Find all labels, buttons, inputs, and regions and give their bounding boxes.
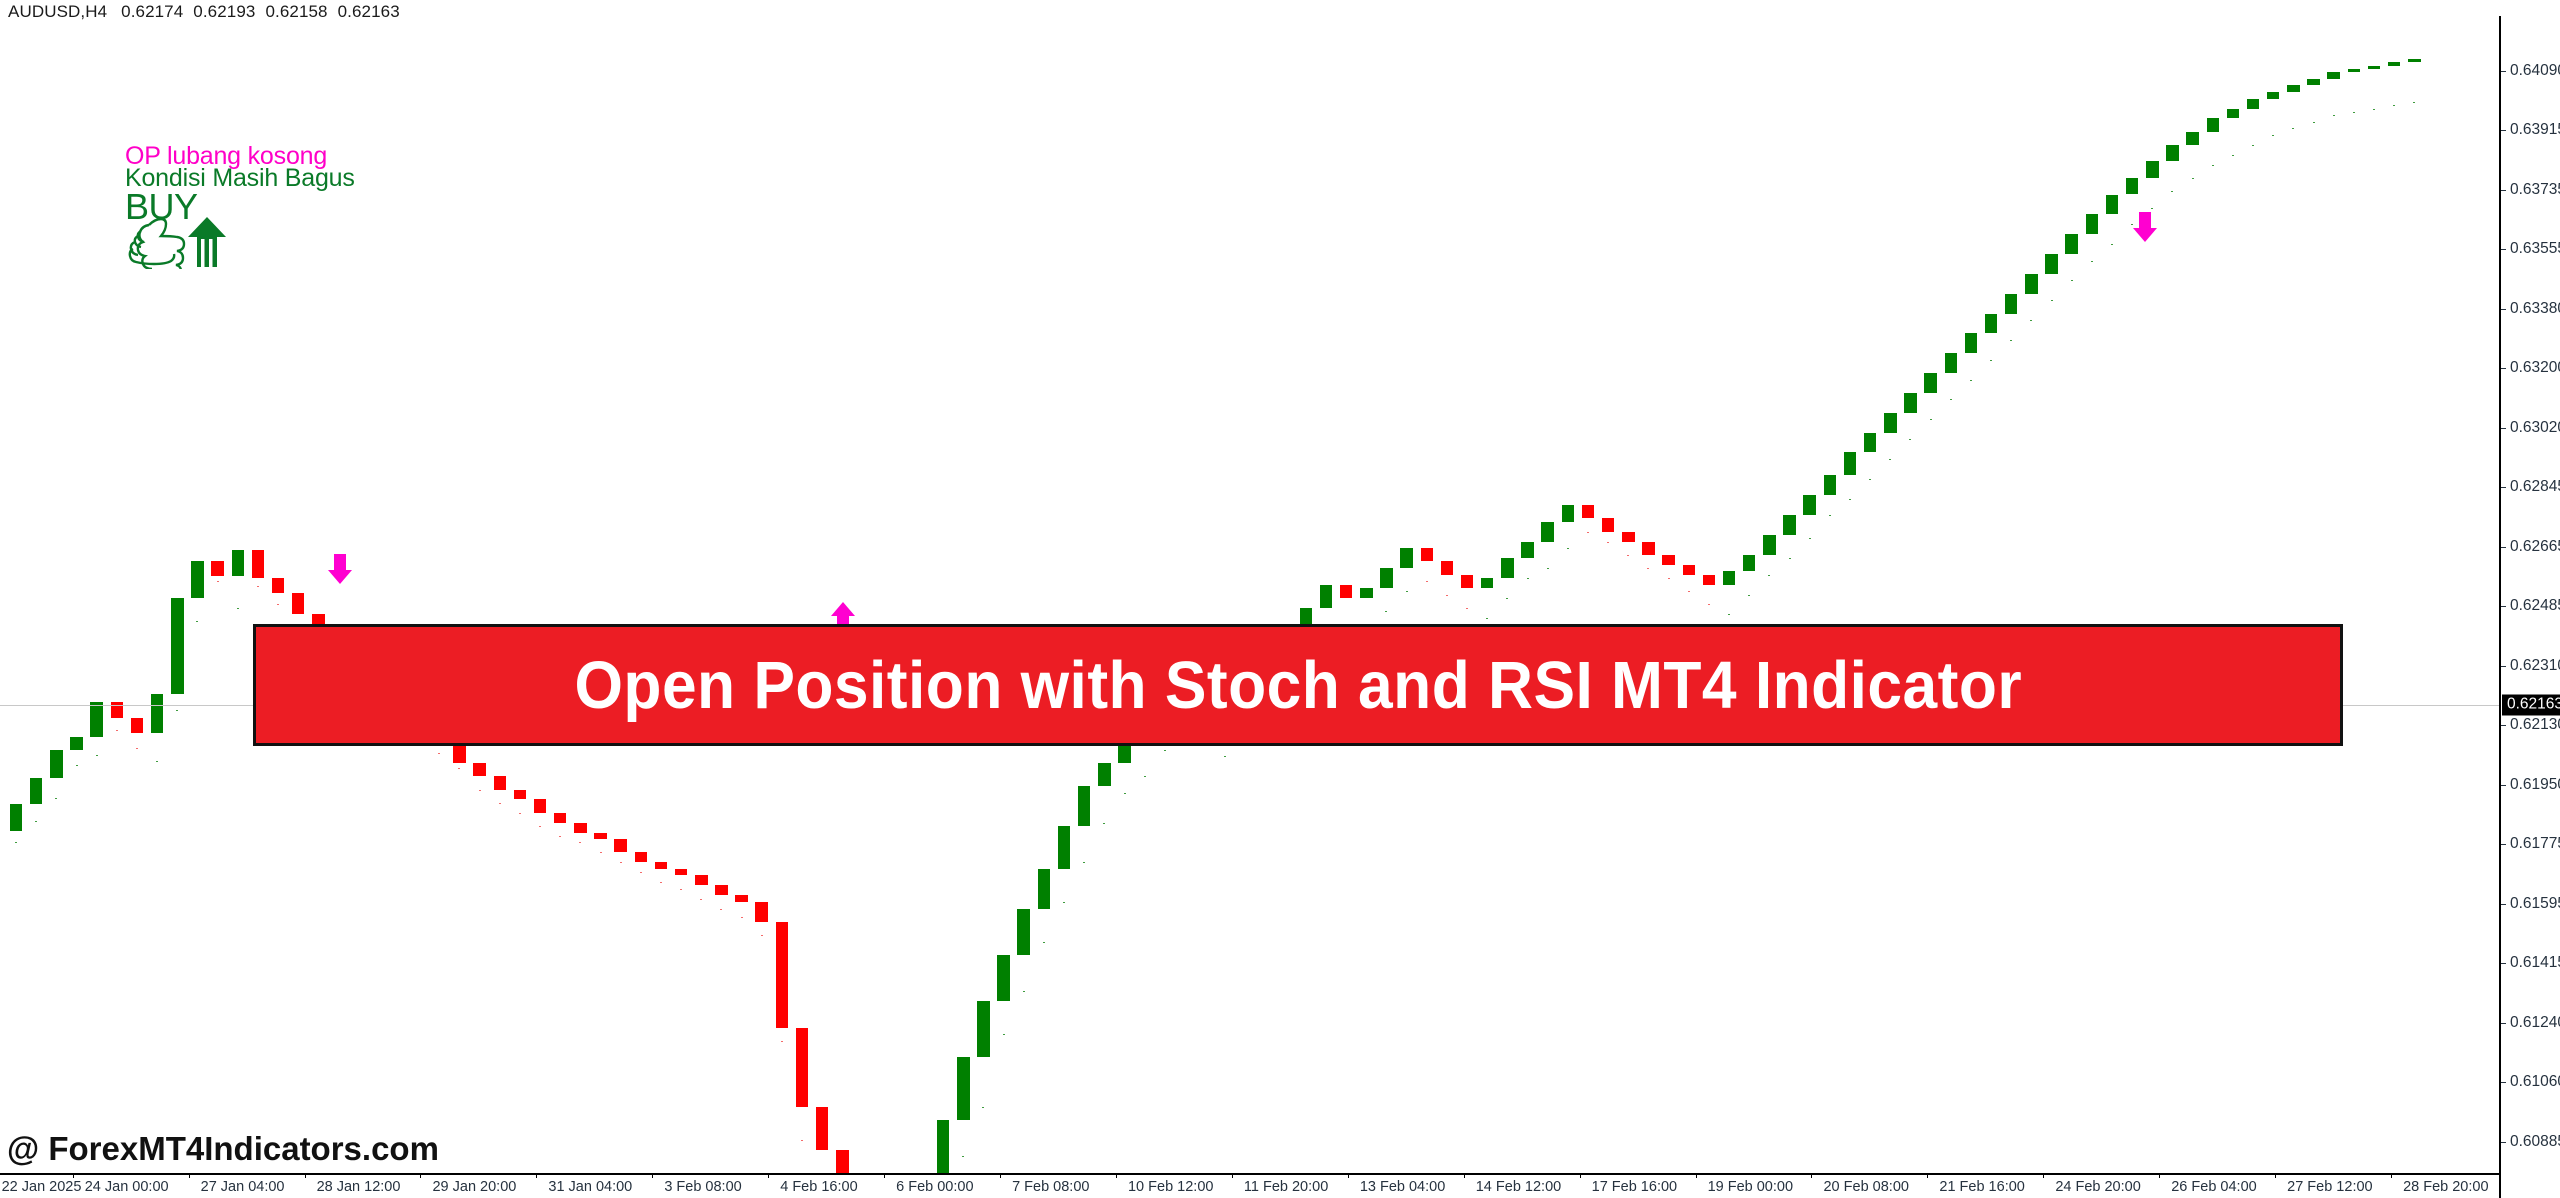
candle-body bbox=[10, 804, 22, 830]
candle-body bbox=[997, 955, 1009, 1001]
time-tick-separator bbox=[1348, 1173, 1349, 1178]
time-tick-separator bbox=[1232, 1173, 1233, 1178]
price-tick: 0.60885 bbox=[2501, 1133, 2560, 1151]
candle-body bbox=[2388, 62, 2400, 65]
price-tick: 0.63915 bbox=[2501, 121, 2560, 139]
candle-body bbox=[131, 718, 143, 733]
candle-wick bbox=[2252, 145, 2254, 146]
price-tick: 0.62665 bbox=[2501, 538, 2560, 556]
candle-wick bbox=[237, 608, 239, 609]
candle-wick bbox=[1103, 823, 1105, 824]
time-tick-separator bbox=[189, 1173, 190, 1178]
candle-body bbox=[2207, 118, 2219, 131]
candle-wick bbox=[680, 889, 682, 890]
candle-body bbox=[836, 1150, 848, 1173]
candle-body bbox=[574, 823, 586, 833]
price-tick: 0.63735 bbox=[2501, 181, 2560, 199]
price-tick: 0.61595 bbox=[2501, 895, 2560, 913]
time-tick-separator bbox=[1116, 1173, 1117, 1178]
candle-wick bbox=[1748, 595, 1750, 596]
candle-wick bbox=[1829, 515, 1831, 516]
time-tick: 27 Feb 12:00 bbox=[2287, 1179, 2372, 1195]
candle-body bbox=[635, 852, 647, 862]
chart-plot-area[interactable]: OP lubang kosong Kondisi Masih Bagus BUY bbox=[0, 16, 2499, 1173]
candle-body bbox=[2247, 99, 2259, 109]
candle-body bbox=[1743, 555, 1755, 572]
time-tick: 27 Jan 04:00 bbox=[201, 1179, 285, 1195]
time-tick: 26 Feb 04:00 bbox=[2171, 1179, 2256, 1195]
time-tick: 29 Jan 20:00 bbox=[432, 1179, 516, 1195]
time-tick: 28 Feb 20:00 bbox=[2403, 1179, 2488, 1195]
time-tick-separator bbox=[652, 1173, 653, 1178]
candle-body bbox=[1501, 558, 1513, 578]
time-tick: 10 Feb 12:00 bbox=[1128, 1179, 1213, 1195]
chart-annotation: OP lubang kosong Kondisi Masih Bagus BUY bbox=[125, 144, 355, 267]
candle-body bbox=[1642, 542, 1654, 555]
candle-wick bbox=[1164, 750, 1166, 751]
time-tick: 14 Feb 12:00 bbox=[1476, 1179, 1561, 1195]
candle-wick bbox=[1809, 538, 1811, 539]
candle-wick bbox=[640, 872, 642, 873]
mt4-chart-window: AUDUSD,H40.621740.621930.621580.62163 OP… bbox=[0, 0, 2560, 1198]
candle-body bbox=[1703, 575, 1715, 585]
candle-body bbox=[1400, 548, 1412, 568]
price-tick: 0.63020 bbox=[2501, 419, 2560, 437]
candle-wick bbox=[479, 790, 481, 791]
candle-wick bbox=[2212, 165, 2214, 166]
candle-body bbox=[1945, 353, 1957, 373]
candle-body bbox=[1541, 522, 1553, 542]
candle-body bbox=[1582, 505, 1594, 518]
time-tick-separator bbox=[768, 1173, 769, 1178]
axis-corner bbox=[2499, 1173, 2560, 1198]
candle-body bbox=[2186, 132, 2198, 145]
candle-wick bbox=[539, 826, 541, 827]
candle-body bbox=[735, 895, 747, 902]
candle-body bbox=[1340, 585, 1352, 598]
candle-body bbox=[1683, 565, 1695, 575]
candle-body bbox=[1924, 373, 1936, 393]
candle-wick bbox=[15, 842, 17, 843]
candle-wick bbox=[116, 730, 118, 731]
candle-wick bbox=[1647, 568, 1649, 569]
candle-wick bbox=[196, 621, 198, 622]
candle-wick bbox=[1486, 618, 1488, 619]
candle-wick bbox=[1768, 575, 1770, 576]
price-tick: 0.61950 bbox=[2501, 776, 2560, 794]
candle-body bbox=[2368, 66, 2380, 69]
candle-body bbox=[2045, 254, 2057, 274]
candle-body bbox=[675, 869, 687, 876]
candle-body bbox=[1965, 333, 1977, 353]
candle-body bbox=[796, 1028, 808, 1107]
candle-body bbox=[1904, 393, 1916, 413]
time-tick-separator bbox=[2275, 1173, 2276, 1178]
candle-body bbox=[2408, 59, 2420, 62]
time-tick: 31 Jan 04:00 bbox=[548, 1179, 632, 1195]
candle-body bbox=[292, 593, 304, 614]
candle-body bbox=[272, 578, 284, 593]
candle-body bbox=[2227, 109, 2239, 119]
candle-body bbox=[2146, 161, 2158, 178]
price-tick: 0.63555 bbox=[2501, 240, 2560, 258]
candle-wick bbox=[700, 899, 702, 900]
candle-wick bbox=[1587, 532, 1589, 533]
time-tick: 20 Feb 08:00 bbox=[1823, 1179, 1908, 1195]
price-tick: 0.62310 bbox=[2501, 657, 2560, 675]
candle-wick bbox=[660, 882, 662, 883]
up-arrow-icon bbox=[188, 217, 226, 267]
candle-body bbox=[1723, 571, 1735, 584]
candle-body bbox=[1622, 532, 1634, 542]
candle-wick bbox=[1023, 991, 1025, 992]
candle-wick bbox=[1930, 419, 1932, 420]
time-tick: 3 Feb 08:00 bbox=[664, 1179, 741, 1195]
time-tick: 6 Feb 00:00 bbox=[896, 1179, 973, 1195]
candle-wick bbox=[2353, 112, 2355, 113]
candle-wick bbox=[96, 755, 98, 756]
candle-wick bbox=[1668, 578, 1670, 579]
promo-banner: Open Position with Stoch and RSI MT4 Ind… bbox=[253, 624, 2343, 746]
price-tick: 0.63380 bbox=[2501, 300, 2560, 318]
candle-wick bbox=[2171, 191, 2173, 192]
price-tick: 0.64090 bbox=[2501, 62, 2560, 80]
candle-body bbox=[1360, 588, 1372, 598]
candle-wick bbox=[2030, 320, 2032, 321]
candle-wick bbox=[1708, 604, 1710, 605]
candle-wick bbox=[801, 1140, 803, 1141]
candle-body bbox=[695, 875, 707, 885]
candle-wick bbox=[1728, 614, 1730, 615]
candle-wick bbox=[741, 917, 743, 918]
candle-wick bbox=[1607, 542, 1609, 543]
candle-wick bbox=[781, 1041, 783, 1042]
candle-body bbox=[2086, 214, 2098, 234]
time-tick: 22 Jan 2025 bbox=[2, 1179, 82, 1195]
candle-body bbox=[2307, 79, 2319, 86]
price-tick: 0.61415 bbox=[2501, 954, 2560, 972]
candle-body bbox=[2126, 178, 2138, 195]
candle-wick bbox=[2010, 340, 2012, 341]
time-tick-separator bbox=[1464, 1173, 1465, 1178]
candle-wick bbox=[620, 862, 622, 863]
candle-wick bbox=[2091, 261, 2093, 262]
time-tick-separator bbox=[1696, 1173, 1697, 1178]
candle-wick bbox=[2413, 102, 2415, 103]
time-tick-separator bbox=[73, 1173, 74, 1178]
candle-body bbox=[776, 922, 788, 1028]
candle-body bbox=[50, 750, 62, 778]
candle-body bbox=[2166, 145, 2178, 162]
candle-body bbox=[70, 737, 82, 750]
price-tick: 0.61775 bbox=[2501, 835, 2560, 853]
candle-wick bbox=[1990, 360, 1992, 361]
time-tick-separator bbox=[305, 1173, 306, 1178]
price-tick: 0.62485 bbox=[2501, 597, 2560, 615]
candle-body bbox=[2327, 72, 2339, 79]
candle-wick bbox=[2232, 155, 2234, 156]
candle-wick bbox=[2272, 135, 2274, 136]
candle-wick bbox=[1688, 591, 1690, 592]
candle-wick bbox=[1466, 608, 1468, 609]
candle-body bbox=[252, 550, 264, 578]
price-tick: 0.61060 bbox=[2501, 1073, 2560, 1091]
time-tick: 4 Feb 16:00 bbox=[780, 1179, 857, 1195]
candle-wick bbox=[1063, 902, 1065, 903]
candle-body bbox=[1098, 763, 1110, 786]
annotation-icons bbox=[125, 215, 355, 267]
candle-wick bbox=[1506, 598, 1508, 599]
candle-wick bbox=[1789, 558, 1791, 559]
price-tick: 0.62845 bbox=[2501, 478, 2560, 496]
price-tick: 0.62130 bbox=[2501, 716, 2560, 734]
candle-body bbox=[1078, 786, 1090, 826]
candle-wick bbox=[277, 604, 279, 605]
candle-body bbox=[453, 745, 465, 763]
candle-body bbox=[1602, 518, 1614, 531]
candle-body bbox=[1803, 495, 1815, 515]
time-tick: 13 Feb 04:00 bbox=[1360, 1179, 1445, 1195]
candle-wick bbox=[2071, 280, 2073, 281]
candle-wick bbox=[1406, 591, 1408, 592]
candle-wick bbox=[962, 1156, 964, 1157]
candle-wick bbox=[761, 935, 763, 936]
candle-wick bbox=[1144, 776, 1146, 777]
candle-wick bbox=[458, 768, 460, 769]
time-tick: 24 Jan 00:00 bbox=[85, 1179, 169, 1195]
candle-body bbox=[1763, 535, 1775, 555]
candle-wick bbox=[2313, 122, 2315, 123]
candle-wick bbox=[2333, 115, 2335, 116]
time-tick-separator bbox=[1000, 1173, 1001, 1178]
candle-body bbox=[2005, 294, 2017, 314]
candle-wick bbox=[2111, 244, 2113, 245]
candle-body bbox=[2025, 274, 2037, 294]
time-tick-separator bbox=[1811, 1173, 1812, 1178]
candle-wick bbox=[499, 803, 501, 804]
candle-wick bbox=[217, 581, 219, 582]
candle-wick bbox=[1083, 862, 1085, 863]
candle-wick bbox=[35, 821, 37, 822]
candle-body bbox=[1441, 561, 1453, 574]
last-price-tag: 0.62163 bbox=[2502, 695, 2560, 716]
candle-wick bbox=[720, 909, 722, 910]
candle-body bbox=[1461, 575, 1473, 588]
candle-wick bbox=[55, 798, 57, 799]
candle-body bbox=[655, 862, 667, 869]
price-axis[interactable]: 0.640900.639150.637350.635550.633800.632… bbox=[2499, 16, 2560, 1173]
time-tick-separator bbox=[2159, 1173, 2160, 1178]
candle-body bbox=[30, 778, 42, 804]
candle-body bbox=[514, 790, 526, 800]
candle-body bbox=[937, 1120, 949, 1173]
candle-body bbox=[232, 550, 244, 576]
candle-body bbox=[1380, 568, 1392, 588]
sell-arrow-icon bbox=[327, 552, 353, 591]
candle-body bbox=[473, 763, 485, 776]
candle-body bbox=[1521, 542, 1533, 559]
candle-body bbox=[90, 702, 102, 737]
candle-body bbox=[1985, 314, 1997, 334]
candle-wick bbox=[2393, 105, 2395, 106]
candle-body bbox=[1017, 909, 1029, 955]
candle-wick bbox=[1849, 499, 1851, 500]
candle-body bbox=[816, 1107, 828, 1150]
time-tick-separator bbox=[1580, 1173, 1581, 1178]
candle-body bbox=[211, 561, 223, 576]
candle-body bbox=[1421, 548, 1433, 561]
time-axis[interactable]: 22 Jan 202524 Jan 00:0027 Jan 04:0028 Ja… bbox=[0, 1173, 2499, 1198]
candle-wick bbox=[1950, 399, 1952, 400]
thumbs-up-icon bbox=[130, 219, 184, 269]
candle-wick bbox=[519, 813, 521, 814]
candle-body bbox=[957, 1057, 969, 1120]
candle-body bbox=[715, 885, 727, 895]
candle-wick bbox=[1124, 793, 1126, 794]
candle-body bbox=[1783, 515, 1795, 535]
candle-body bbox=[1662, 555, 1674, 565]
candle-body bbox=[1058, 826, 1070, 869]
candle-body bbox=[614, 839, 626, 852]
candle-body bbox=[755, 902, 767, 922]
candle-wick bbox=[438, 753, 440, 754]
candle-body bbox=[1038, 869, 1050, 909]
time-tick: 19 Feb 00:00 bbox=[1708, 1179, 1793, 1195]
time-tick: 21 Feb 16:00 bbox=[1939, 1179, 2024, 1195]
candle-wick bbox=[1224, 756, 1226, 757]
candle-body bbox=[1884, 413, 1896, 433]
candle-wick bbox=[1003, 1034, 1005, 1035]
candle-wick bbox=[1567, 548, 1569, 549]
candle-wick bbox=[1385, 611, 1387, 612]
time-tick-separator bbox=[420, 1173, 421, 1178]
candle-body bbox=[2065, 234, 2077, 254]
candle-wick bbox=[579, 842, 581, 843]
candle-body bbox=[151, 694, 163, 734]
candle-wick bbox=[2292, 128, 2294, 129]
candle-body bbox=[2348, 69, 2360, 72]
candle-wick bbox=[1043, 942, 1045, 943]
time-tick-separator bbox=[536, 1173, 537, 1178]
candle-wick bbox=[1889, 459, 1891, 460]
price-tick: 0.61240 bbox=[2501, 1014, 2560, 1032]
candle-body bbox=[2287, 85, 2299, 92]
time-tick-separator bbox=[2391, 1173, 2392, 1178]
time-tick: 17 Feb 16:00 bbox=[1592, 1179, 1677, 1195]
time-tick: 11 Feb 20:00 bbox=[1244, 1179, 1328, 1195]
candle-wick bbox=[600, 852, 602, 853]
candle-body bbox=[494, 776, 506, 789]
candle-body bbox=[1864, 433, 1876, 453]
candle-wick bbox=[1970, 380, 1972, 381]
candle-body bbox=[594, 833, 606, 840]
promo-banner-title: Open Position with Stoch and RSI MT4 Ind… bbox=[574, 652, 2022, 719]
time-tick: 24 Feb 20:00 bbox=[2055, 1179, 2140, 1195]
candle-wick bbox=[156, 761, 158, 762]
candle-wick bbox=[1869, 479, 1871, 480]
candle-body bbox=[191, 561, 203, 597]
candle-wick bbox=[1547, 568, 1549, 569]
site-watermark: @ ForexMT4Indicators.com bbox=[7, 1130, 439, 1168]
candle-wick bbox=[1909, 439, 1911, 440]
candle-wick bbox=[257, 586, 259, 587]
sell-arrow-icon bbox=[2132, 210, 2158, 249]
candle-body bbox=[1562, 505, 1574, 522]
candle-body bbox=[534, 799, 546, 812]
candle-wick bbox=[982, 1107, 984, 1108]
time-tick-separator bbox=[1927, 1173, 1928, 1178]
candle-wick bbox=[2192, 178, 2194, 179]
candle-wick bbox=[559, 836, 561, 837]
time-tick: 7 Feb 08:00 bbox=[1012, 1179, 1089, 1195]
candle-body bbox=[554, 813, 566, 823]
time-tick-separator bbox=[884, 1173, 885, 1178]
candle-wick bbox=[136, 748, 138, 749]
price-tick: 0.63200 bbox=[2501, 359, 2560, 377]
candle-wick bbox=[1627, 555, 1629, 556]
candle-body bbox=[1824, 475, 1836, 495]
candle-body bbox=[171, 598, 183, 694]
candle-wick bbox=[2373, 109, 2375, 110]
candle-wick bbox=[1527, 578, 1529, 579]
candle-body bbox=[2267, 92, 2279, 99]
candle-body bbox=[1844, 452, 1856, 475]
candle-body bbox=[1481, 578, 1493, 588]
candle-body bbox=[977, 1001, 989, 1057]
time-tick: 28 Jan 12:00 bbox=[317, 1179, 401, 1195]
candle-wick bbox=[2051, 300, 2053, 301]
candle-wick bbox=[2151, 208, 2153, 209]
candle-wick bbox=[76, 765, 78, 766]
time-tick-separator bbox=[2043, 1173, 2044, 1178]
candle-wick bbox=[176, 710, 178, 711]
candle-wick bbox=[1446, 595, 1448, 596]
candle-wick bbox=[1426, 581, 1428, 582]
candle-body bbox=[1320, 585, 1332, 608]
candle-body bbox=[2106, 195, 2118, 215]
